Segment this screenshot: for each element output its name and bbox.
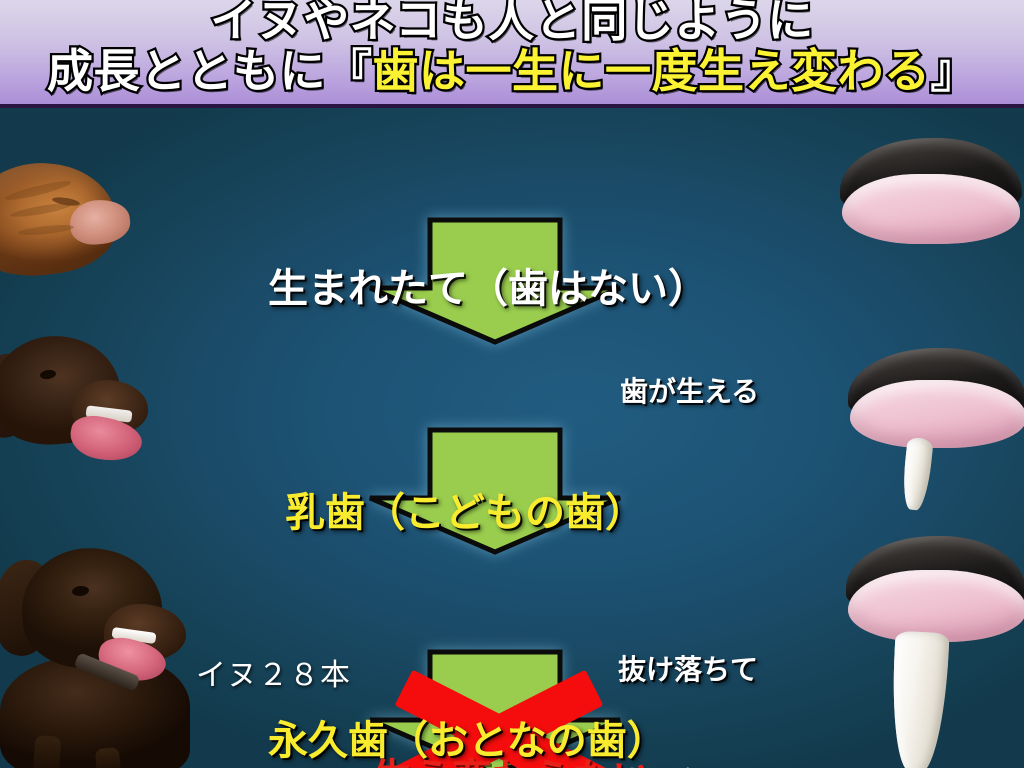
header-line-2-prefix: 成長とともに『 — [47, 44, 373, 98]
permanent-tooth-shape — [888, 631, 949, 768]
transition-label-teeth-fall-and-replace: 抜け落ちて 生え変わる — [618, 575, 758, 768]
stage-title-newborn: 生まれたて（歯はない） — [268, 256, 708, 314]
diagram-panel: 生まれたて（歯はない） 乳歯（こどもの歯） 永久歯（おとなの歯） 歯が生える 抜… — [0, 108, 1024, 768]
header-line-2-suffix: 』 — [931, 44, 978, 98]
tooth-count-dog: イヌ２８本 — [196, 655, 351, 698]
gum-shape — [850, 380, 1024, 448]
slide-root: イヌやネコも人と同じように 成長とともに『歯は一生に一度生え変わる』 — [0, 0, 1024, 768]
header-line-2: 成長とともに『歯は一生に一度生え変わる』 — [0, 35, 1024, 101]
stage-title-baby-teeth: 乳歯（こどもの歯） — [285, 480, 645, 538]
transition-label-no-further-change: 生え変わらない — [372, 746, 652, 768]
gum-shape — [842, 174, 1020, 244]
transition-label-line-1: 抜け落ちて — [618, 651, 758, 689]
header-line-2-emphasis: 歯は一生に一度生え変わる — [373, 44, 931, 98]
tooth-counts-baby-teeth: イヌ２８本 ネコ２６本 — [196, 570, 351, 768]
slide-header: イヌやネコも人と同じように 成長とともに『歯は一生に一度生え変わる』 — [0, 0, 1024, 108]
adult-dog-leg-shape — [33, 735, 62, 768]
baby-tooth-shape — [900, 437, 933, 511]
transition-label-teeth-erupt: 歯が生える — [620, 373, 759, 411]
gum-shape — [848, 570, 1024, 642]
adult-dog-leg-shape — [95, 747, 121, 768]
